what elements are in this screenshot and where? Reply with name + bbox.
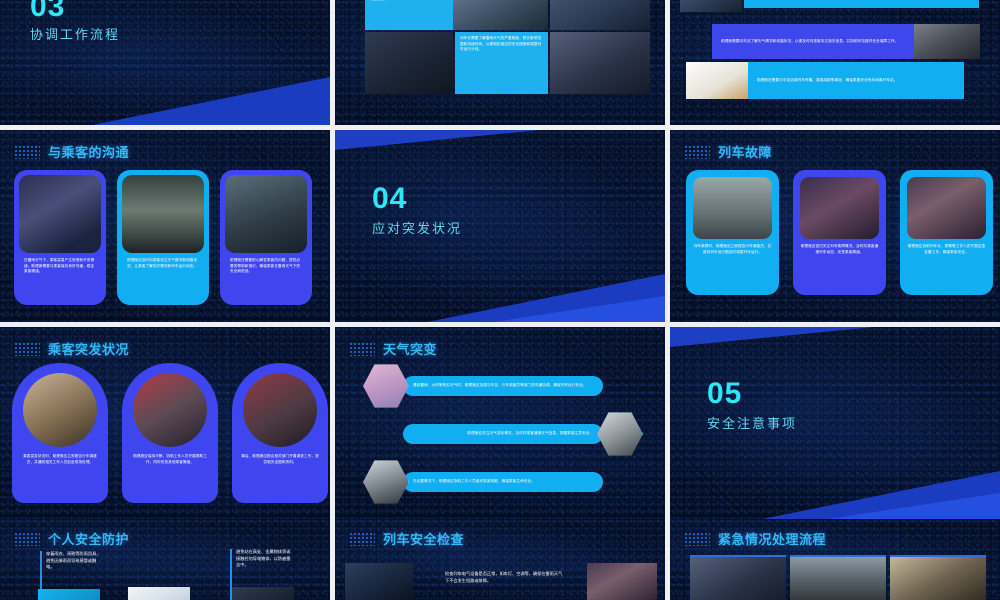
- check-description: 检查列车电气设备是否正常，如车灯、空调等，确保在雷雨天气下不会发生短路或故障。: [445, 571, 565, 584]
- slide-grid-row-partial: 个人安全防护 穿着雨衣、雨靴等防雨用具，避免因淋雨而导致感冒或触电。 避免站在高…: [0, 519, 1000, 600]
- photo-lightning: [363, 459, 409, 505]
- photo-crew-check: [800, 177, 879, 239]
- photo-cabin-seats: [133, 373, 207, 447]
- dot-grid-icon: [14, 145, 40, 159]
- content-card[interactable]: 在雷雨天气下，乘客容易产生恐慌和不安情绪。助理席需要与乘客保持良好沟通，稳定乘客…: [14, 170, 106, 305]
- hex-banner-item[interactable]: 在必要情况下，助理席应协助工作人员组织乘客疏散，确保乘客生命安全。: [363, 459, 603, 505]
- section-subtitle: 安全注意事项: [707, 413, 797, 432]
- photo-rain-gear: [38, 589, 100, 600]
- banner-top: [744, 0, 979, 8]
- timeline-item-text: 避免站在高处、金属物体旁或接触任何导电物体，以防被雷击中。: [236, 549, 294, 569]
- photo-illustration: [128, 587, 190, 600]
- banner-station-info: 助理席需要向车站了解天气情况和线路状况，以便及时向旅客传达相关信息，并协助车站做…: [712, 24, 980, 59]
- timeline-item-text: 穿着雨衣、雨靴等防雨用具，避免因淋雨而导致感冒或触电。: [46, 551, 102, 571]
- dot-grid-icon: [349, 342, 375, 356]
- photo-platform: [914, 24, 980, 59]
- content-card[interactable]: 乘客突发状况时，助理席应立即报告行车调度员，并通知相关工作人员赶赴现场处理。: [12, 363, 108, 503]
- photo-rain-street: [225, 175, 307, 253]
- photo-seat-area: [243, 373, 317, 447]
- photo-staff-group: [550, 0, 650, 30]
- slide-header: 列车故障: [684, 142, 772, 161]
- photo-meeting-illustration: [686, 62, 748, 99]
- content-card[interactable]: 助理席还需要耐心解答乘客的问题，提供必要的帮助和指引，确保乘客在雷雨天气下的安全…: [220, 170, 312, 305]
- banner-station-coordination: 助理席还需要与车站协调列车停靠、乘客疏散等事宜，确保乘客安全有序地离开车站。: [686, 62, 964, 99]
- photo-storm-sky: [122, 175, 204, 253]
- dot-grid-icon: [684, 532, 710, 546]
- dot-grid-icon: [14, 532, 40, 546]
- slide-header-title: 列车故障: [718, 142, 772, 161]
- card-row: 列车故障时，助理席应立即报告行车调度员，并维持列车运行图及时调整列车运行。 助理…: [686, 170, 993, 295]
- content-card[interactable]: 助理席应及时向乘客传达天气情况和线路状况，让乘客了解实时情况和列车运行动态。: [117, 170, 209, 305]
- slide-header-title: 个人安全防护: [48, 529, 129, 548]
- photo-luggage: [23, 373, 97, 447]
- slide-thumbnail-emergency-process[interactable]: 紧急情况处理流程: [670, 519, 1000, 600]
- photo-foggy-train: [693, 177, 772, 239]
- section-number: 03: [30, 0, 65, 22]
- content-card[interactable]: 助理席应密切关注列车故障情况，及时向乘客通报列车动态，安抚乘客情绪。: [793, 170, 886, 295]
- slide-thumbnail-train-safety-check[interactable]: 列车安全检查 检查列车电气设备是否正常，如车灯、空调等，确保在雷雨天气下不会发生…: [335, 519, 665, 600]
- photo-cab-inspection: [345, 563, 413, 600]
- dot-grid-icon: [349, 532, 375, 546]
- hex-banner-text: 助理席应关注天气变化情况，及时向乘客通报天气信息，提醒乘客注意安全。: [403, 424, 603, 444]
- slide-thumbnail-03-section[interactable]: 03 协调工作流程: [0, 0, 330, 125]
- content-card[interactable]: 事后，助理席应配合相关部门开展调查工作，提供相关证据和资料。: [232, 363, 328, 503]
- photo-lightning-warning: [232, 587, 294, 600]
- dot-grid-icon: [684, 145, 710, 159]
- photo-wet-road-bus: [790, 555, 886, 600]
- banner-station-coordination-text: 助理席还需要与车站协调列车停靠、乘客疏散等事宜，确保乘客安全有序地离开车站。: [748, 62, 964, 99]
- slide-header: 乘客突发状况: [14, 339, 129, 358]
- content-card[interactable]: 助理席应保持冷静，协助工作人员开展救助工作，同时安抚其他乘客情绪。: [122, 363, 218, 503]
- slide-header-title: 与乘客的沟通: [48, 142, 129, 161]
- collage-caption-center: 列车长需要了解雷雨天气的严重程度、预计影响范围和持续时间，以便制定相应的安全措施…: [455, 32, 548, 94]
- hex-banner-text: 遇到雷雨、大风等恶劣天气时，助理席应加强与车站、行车调度员等部门的沟通协调，确保…: [403, 376, 603, 396]
- slide-header-title: 紧急情况处理流程: [718, 529, 826, 548]
- content-card[interactable]: 列车故障时，助理席应立即报告行车调度员，并维持列车运行图及时调整列车运行。: [686, 170, 779, 295]
- slide-header-title: 列车安全检查: [383, 529, 464, 548]
- photo-aisle-crew: [907, 177, 986, 239]
- slide-header: 个人安全防护: [14, 529, 129, 548]
- section-subtitle: 协调工作流程: [30, 24, 120, 43]
- slide-grid: 03 协调工作流程 列车长是列车安全和运营的主要负责人，在雷雨天气下，助理席应与…: [0, 0, 1000, 600]
- section-number: 05: [707, 379, 742, 409]
- dot-grid-icon: [14, 342, 40, 356]
- card-row: 在雷雨天气下，乘客容易产生恐慌和不安情绪。助理席需要与乘客保持良好沟通，稳定乘客…: [14, 170, 312, 305]
- photo-meeting-top: [680, 0, 742, 12]
- slide-header: 与乘客的沟通: [14, 142, 129, 161]
- slide-header: 紧急情况处理流程: [684, 529, 826, 548]
- slide-thumbnail-personal-protection[interactable]: 个人安全防护 穿着雨衣、雨靴等防雨用具，避免因淋雨而导致感冒或触电。 避免站在高…: [0, 519, 330, 600]
- photo-masked-passengers: [453, 0, 548, 30]
- photo-cloud: [597, 411, 643, 457]
- slide-thumbnail-passenger-emergency[interactable]: 乘客突发状况 乘客突发状况时，助理席应立即报告行车调度员，并通知相关工作人员赶赴…: [0, 327, 330, 519]
- slide-thumbnail-banners[interactable]: 助理席需要向车站了解天气情况和线路状况，以便及时向旅客传达相关信息，并协助车站做…: [670, 0, 1000, 125]
- photo-train-door: [550, 32, 650, 94]
- hex-banner-item[interactable]: 助理席应关注天气变化情况，及时向乘客通报天气信息，提醒乘客注意安全。: [403, 411, 648, 457]
- card-row: 乘客突发状况时，助理席应立即报告行车调度员，并通知相关工作人员赶赴现场处理。 助…: [12, 363, 328, 503]
- section-subtitle: 应对突发状况: [372, 218, 462, 237]
- slide-header-title: 乘客突发状况: [48, 339, 129, 358]
- slide-thumbnail-collage[interactable]: 列车长是列车安全和运营的主要负责人，在雷雨天气下，助理席应与列车长密切沟通，确保…: [335, 0, 665, 125]
- photo-cabin-patrol: [587, 563, 657, 600]
- slide-header: 列车安全检查: [349, 529, 464, 548]
- collage-caption-left: 列车长是列车安全和运营的主要负责人，在雷雨天气下，助理席应与列车长密切沟通，确保…: [365, 0, 453, 30]
- slide-header-title: 天气突变: [383, 339, 437, 358]
- photo-conductor-window: [365, 32, 453, 94]
- slide-thumbnail-train-fault[interactable]: 列车故障 列车故障时，助理席应立即报告行车调度员，并维持列车运行图及时调整列车运…: [670, 130, 1000, 322]
- slide-thumbnail-05-section[interactable]: 05 安全注意事项: [670, 327, 1000, 519]
- section-number: 04: [372, 184, 407, 214]
- photo-bus-boarding: [19, 175, 101, 253]
- slide-thumbnail-04-section[interactable]: 04 应对突发状况: [335, 130, 665, 322]
- photo-officer-control: [890, 555, 986, 600]
- slide-header: 天气突变: [349, 339, 437, 358]
- hex-banner-text: 在必要情况下，助理席应协助工作人员组织乘客疏散，确保乘客生命安全。: [403, 472, 603, 492]
- banner-station-info-text: 助理席需要向车站了解天气情况和线路状况，以便及时向旅客传达相关信息，并协助车站做…: [712, 24, 914, 59]
- hex-banner-item[interactable]: 遇到雷雨、大风等恶劣天气时，助理席应加强与车站、行车调度员等部门的沟通协调，确保…: [363, 363, 603, 409]
- photo-police-door: [690, 555, 786, 600]
- content-card[interactable]: 助理席应协助列车长、乘警等工作人员开展应急处置工作，确保乘客安全。: [900, 170, 993, 295]
- slide-thumbnail-weather-change[interactable]: 天气突变 遇到雷雨、大风等恶劣天气时，助理席应加强与车站、行车调度员等部门的沟通…: [335, 327, 665, 519]
- photo-pink-sky: [363, 363, 409, 409]
- slide-thumbnail-passenger-communication[interactable]: 与乘客的沟通 在雷雨天气下，乘客容易产生恐慌和不安情绪。助理席需要与乘客保持良好…: [0, 130, 330, 322]
